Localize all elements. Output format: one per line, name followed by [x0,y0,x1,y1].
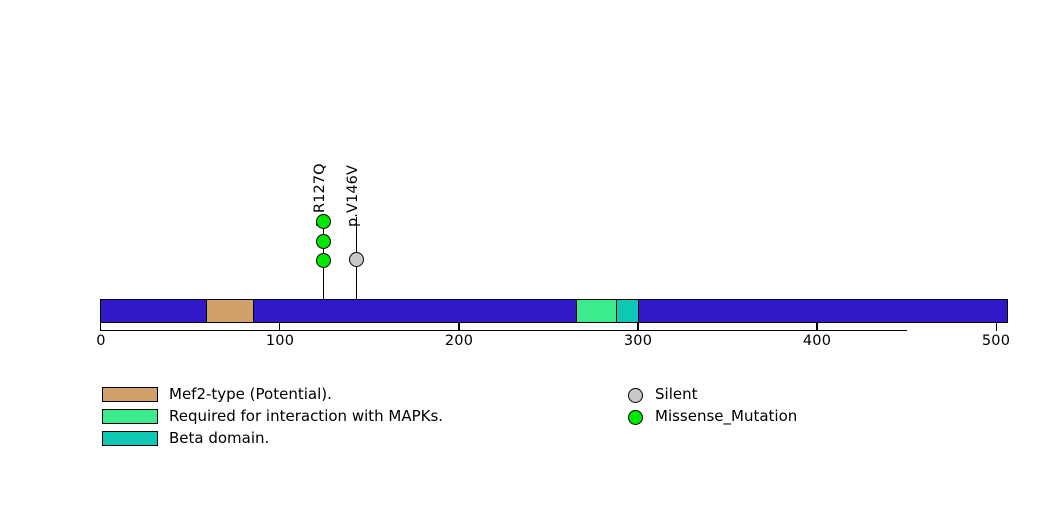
legend-dot-silent [628,388,643,403]
legend-label-missense-mutation: Missense_Mutation [655,408,797,425]
mutation-marker-missense[interactable] [316,234,331,249]
axis-line [100,330,907,331]
axis-tick [816,323,817,331]
mutation-marker-missense[interactable] [316,253,331,268]
legend-label-mef2-type: Mef2-type (Potential). [169,386,332,403]
legend-label-silent: Silent [655,386,697,403]
legend-dot-missense-mutation [628,410,643,425]
domain-beta[interactable] [616,299,639,323]
axis-tick [458,323,459,331]
mutation-label-p-V146V: p.V146V [346,165,361,227]
legend-swatch-mapk-interaction [102,409,158,424]
axis-tick-label: 100 [266,333,294,350]
mutation-marker-silent[interactable] [349,252,364,267]
axis-tick-label: 300 [624,333,652,350]
domain-mef2-type[interactable] [206,299,254,323]
axis-tick-label: 0 [96,333,105,350]
axis-tick-label: 500 [982,333,1010,350]
axis-tick [996,323,997,331]
axis-tick-label: 200 [445,333,473,350]
legend-swatch-mef2-type [102,387,158,402]
lollipop-plot: p.R127Q p.V146V 0 100 200 300 400 500 Me… [0,0,1047,524]
legend-label-mapk-interaction: Required for interaction with MAPKs. [169,408,443,425]
axis-tick [279,323,280,331]
axis-tick [100,323,101,331]
axis-tick-label: 400 [803,333,831,350]
legend-swatch-beta-domain [102,431,158,446]
legend-label-beta-domain: Beta domain. [169,430,269,447]
mutation-marker-missense[interactable] [316,214,331,229]
axis-tick [637,323,638,331]
